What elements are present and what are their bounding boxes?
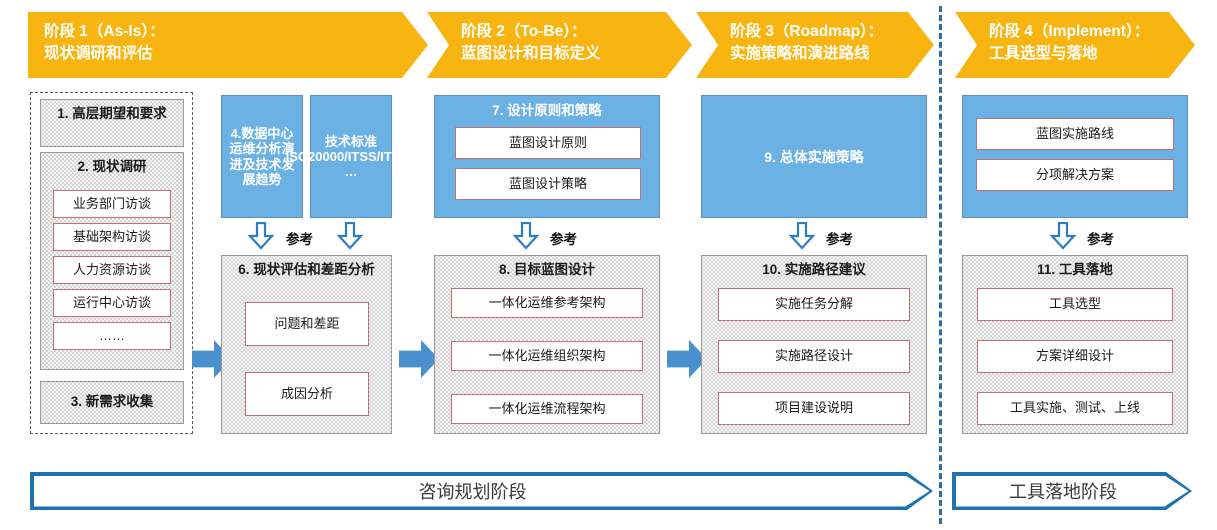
box-9-overall-strategy: 9. 总体实施策略 [701, 95, 927, 218]
down-arrow-icon [336, 222, 364, 250]
list-item-label: 运行中心访谈 [73, 295, 151, 311]
box-10-title: 10. 实施路径建议 [702, 256, 926, 279]
phase-2-line2: 蓝图设计和目标定义 [461, 43, 662, 65]
box-blueprint-rollout [962, 95, 1188, 218]
box-1-high-level-expectations: 1. 高层期望和要求 [40, 99, 184, 147]
phase-3-line2: 实施策略和演进路线 [730, 43, 904, 65]
list-item[interactable]: 实施路径设计 [718, 340, 910, 373]
list-item[interactable]: 蓝图实施路线 [976, 118, 1174, 150]
list-item-label: 蓝图设计策略 [509, 176, 587, 192]
list-item-label: 方案详细设计 [1036, 348, 1114, 364]
phase-4-line2: 工具选型与落地 [989, 43, 1165, 65]
list-item[interactable]: 蓝图设计原则 [455, 127, 641, 159]
box-8-title: 8. 目标蓝图设计 [435, 256, 659, 279]
reference-label: 参考 [286, 228, 313, 248]
bottom-banner-tooling: 工具落地阶段 [952, 472, 1192, 510]
bottom-banner-tooling-label: 工具落地阶段 [1009, 478, 1135, 504]
list-item-label: 人力资源访谈 [73, 262, 151, 278]
bottom-banner-consulting: 咨询规划阶段 [30, 472, 933, 510]
list-item-label: 项目建设说明 [775, 400, 853, 416]
phase-banner-4: 阶段 4（Implement）： 工具选型与落地 [955, 12, 1195, 78]
list-item[interactable]: 运行中心访谈 [53, 289, 171, 317]
list-item-label: 工具选型 [1049, 296, 1101, 312]
list-item-label: 一体化运维流程架构 [488, 401, 605, 417]
bottom-banner-consulting-label: 咨询规划阶段 [419, 478, 545, 504]
list-item[interactable]: 项目建设说明 [718, 392, 910, 425]
reference-label: 参考 [550, 228, 577, 248]
phase-1-line2: 现状调研和评估 [44, 43, 398, 65]
list-item-label: 蓝图实施路线 [1036, 126, 1114, 142]
flowchart-diagram: 阶段 1（As-Is）： 现状调研和评估 阶段 2（To-Be）： 蓝图设计和目… [0, 0, 1217, 530]
list-item-label: 实施任务分解 [775, 296, 853, 312]
box-9-title: 9. 总体实施策略 [764, 147, 864, 167]
list-item-label: 业务部门访谈 [73, 196, 151, 212]
phase-banner-1: 阶段 1（As-Is）： 现状调研和评估 [28, 12, 428, 78]
list-item[interactable]: 基础架构访谈 [53, 223, 171, 251]
list-item-label: 工具实施、测试、上线 [1010, 400, 1140, 416]
list-item-label: 蓝图设计原则 [509, 135, 587, 151]
reference-label: 参考 [826, 228, 853, 248]
flow-arrow-right [399, 340, 439, 378]
box-3-new-requirements: 3. 新需求收集 [40, 381, 184, 424]
list-item-label: 分项解决方案 [1036, 167, 1114, 183]
list-item[interactable]: 方案详细设计 [977, 340, 1173, 373]
list-item[interactable]: 工具实施、测试、上线 [977, 392, 1173, 425]
list-item-label: 实施路径设计 [775, 348, 853, 364]
list-item[interactable]: 人力资源访谈 [53, 256, 171, 284]
phase-3-line1: 阶段 3（Roadmap）： [730, 21, 904, 43]
list-item[interactable]: …… [53, 322, 171, 350]
phase-4-line1: 阶段 4（Implement）： [989, 21, 1165, 43]
list-item-label: 基础架构访谈 [73, 229, 151, 245]
section-divider [939, 6, 942, 524]
list-item-label: 一体化运维组织架构 [488, 348, 605, 364]
list-item[interactable]: 分项解决方案 [976, 159, 1174, 191]
reference-label: 参考 [1087, 228, 1114, 248]
list-item[interactable]: 业务部门访谈 [53, 190, 171, 218]
phase-2-line1: 阶段 2（To-Be）： [461, 21, 662, 43]
box-1-title: 1. 高层期望和要求 [41, 100, 183, 123]
list-item-label: 问题和差距 [274, 316, 339, 332]
phase-1-line1: 阶段 1（As-Is）： [44, 21, 398, 43]
list-item-label: …… [99, 328, 125, 344]
down-arrow-icon [247, 222, 275, 250]
down-arrow-icon [788, 222, 816, 250]
list-item[interactable]: 成因分析 [245, 372, 369, 416]
box-7-title: 7. 设计原则和策略 [435, 96, 659, 120]
list-item[interactable]: 一体化运维组织架构 [451, 341, 643, 371]
box-3-title: 3. 新需求收集 [41, 382, 183, 411]
tech-standards-label: 技术标准ISO20000/ITSS/ITIL… … [286, 134, 417, 180]
down-arrow-icon [1049, 222, 1077, 250]
box-2-title: 2. 现状调研 [41, 153, 183, 176]
list-item-label: 成因分析 [281, 386, 333, 402]
box-tech-standards: 技术标准ISO20000/ITSS/ITIL… … [310, 95, 392, 218]
list-item[interactable]: 工具选型 [977, 288, 1173, 321]
box-11-title: 11. 工具落地 [963, 256, 1187, 279]
list-item[interactable]: 一体化运维流程架构 [451, 394, 643, 424]
list-item[interactable]: 一体化运维参考架构 [451, 288, 643, 318]
down-arrow-icon [512, 222, 540, 250]
box-6-title: 6. 现状评估和差距分析 [222, 256, 391, 279]
list-item[interactable]: 蓝图设计策略 [455, 168, 641, 200]
phase-banner-2: 阶段 2（To-Be）： 蓝图设计和目标定义 [427, 12, 692, 78]
phase-banner-3: 阶段 3（Roadmap）： 实施策略和演进路线 [696, 12, 934, 78]
list-item-label: 一体化运维参考架构 [488, 295, 605, 311]
list-item[interactable]: 问题和差距 [245, 302, 369, 346]
list-item[interactable]: 实施任务分解 [718, 288, 910, 321]
